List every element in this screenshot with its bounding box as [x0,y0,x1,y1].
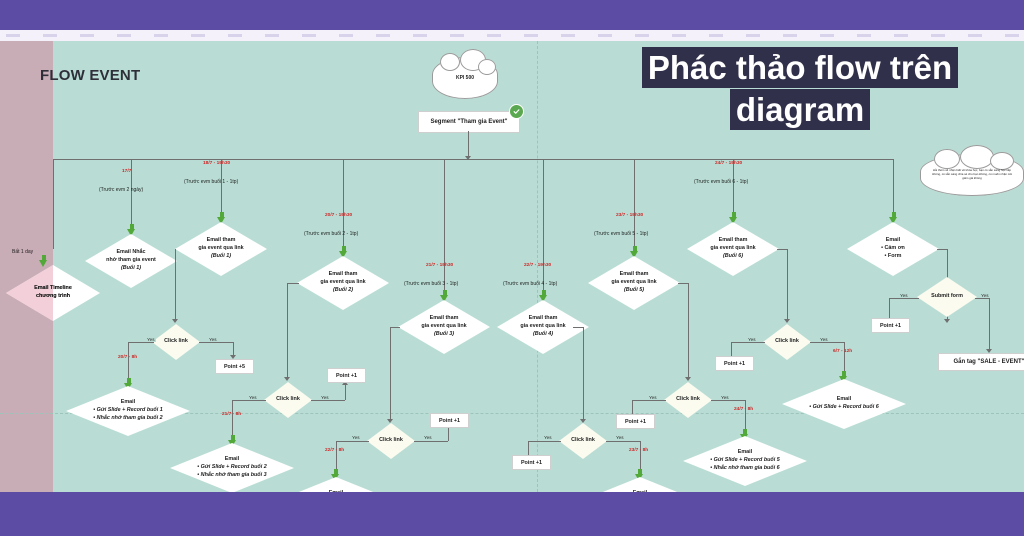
edge-label-yes: Yes [543,435,553,440]
node-email-material-b6[interactable]: Email • Gửi Slide + Record buổi 6 [782,379,906,429]
node-text: Email tham gia event qua link (Buổi 3) [415,315,472,338]
connector [528,441,529,455]
node-text: Email • Gửi Slide + Record buổi 4 • Nhắc… [599,490,680,492]
node-click-link-b4[interactable]: Click link [559,423,607,459]
node-click-link-b2[interactable]: Click link [264,382,312,418]
connector [989,298,990,352]
ruler-tick [635,34,649,37]
timeline-side-label: Bất 1 day [12,249,33,255]
top-chrome-bar [0,0,1024,30]
connector [777,249,788,250]
email-title: Email [837,396,851,402]
node-email-material-b5[interactable]: Email • Gửi Slide + Record buổi 5 • Nhắc… [683,436,807,486]
screenshot-root: FLOW EVENT KPI 500 Hỏi thêm về nhận biết… [0,0,1024,536]
node-line-2: gia event qua link [520,323,565,329]
connector [468,131,469,158]
cloud-bubble [440,53,460,71]
connector [128,342,154,343]
ruler-tick [413,34,427,37]
node-text: Click link [670,396,706,404]
arrow-head [284,377,290,381]
email-date-b1: 20/7 - 8h [118,355,137,360]
connector [583,327,584,421]
board-title: FLOW EVENT [40,67,140,84]
ruler-tick [598,34,612,37]
node-text: Email tham gia event qua link (Buổi 2) [314,271,371,294]
connector [975,298,989,299]
node-line-1: Email tham [529,315,558,321]
node-line-1: Email Nhắc [116,249,145,255]
node-point-plus1-b2[interactable]: Point +1 [327,368,366,383]
ruler-tick [117,34,131,37]
node-text: Email • Gửi Slide + Record buổi 6 [803,396,884,412]
branch-note-b0: (Trước evm 2 ngày) [99,187,143,193]
node-line-2: gia event qua link [320,279,365,285]
connector [678,283,689,284]
main-bus-line [53,159,893,160]
email-title: Email [121,399,135,405]
kpi-cloud: KPI 500 [432,57,498,99]
node-email-link-b5[interactable]: Email tham gia event qua link (Buổi 5) [588,256,680,310]
edge-label-yes: Yes [351,435,361,440]
arrow-head [784,319,790,323]
email-item-2: • Nhắc nhở tham gia buổi 6 [710,465,779,473]
node-email-material-b1[interactable]: Email • Gửi Slide + Record buổi 1 • Nhắc… [66,386,190,436]
node-line-2: gia event qua link [710,245,755,251]
connector [889,298,890,318]
node-text: Click link [270,396,306,404]
connector [543,159,544,299]
ruler-tick [746,34,760,37]
connector [810,342,844,343]
node-point-plus1-b3[interactable]: Point +1 [430,413,469,428]
branch-date-b0: 17/7 [122,169,131,174]
branch-note-b2: (Trước evm buổi 2 - 1tp) [304,231,358,237]
ruler-tick [820,34,834,37]
ruler-tick [339,34,353,37]
node-text: Email tham gia event qua link (Buổi 6) [704,237,761,260]
ruler-tick [376,34,390,37]
cloud-bubble [478,59,496,75]
connector [175,249,176,321]
node-click-link-b5[interactable]: Click link [664,382,712,418]
connector [688,283,689,379]
ruler-tick [43,34,57,37]
node-click-link-b6[interactable]: Click link [763,324,811,360]
connector [287,283,299,284]
connector [606,441,640,442]
email-date-b4: 23/7 - 8h [629,448,648,453]
email-title: Email [738,449,752,455]
email-title: Email [633,490,647,492]
ruler-tick [783,34,797,37]
node-email-link-b6[interactable]: Email tham gia event qua link (Buổi 6) [687,222,779,276]
node-line-3: (Buổi 5) [611,287,656,295]
ruler-tick [80,34,94,37]
branch-date-b2: 20/7 - 19h30 [325,213,352,218]
note-cloud-text: Hỏi thêm về nhận biết về khóa học, bạn c… [920,169,1024,181]
connector [53,159,54,249]
node-text: Email • Gửi Slide + Record buổi 2 • Nhắc… [191,456,272,479]
node-line-3: (Buổi 4) [520,331,565,339]
node-line-3: (Buổi 3) [421,331,466,339]
ruler-tick [931,34,945,37]
connector [731,342,732,356]
branch-date-b6: 24/7 - 19h30 [715,161,742,166]
ruler-tick [450,34,464,37]
email-date-b2: 21/7 - 8h [222,412,241,417]
ruler-tick [672,34,686,37]
branch-date-b3: 21/7 - 19h30 [426,263,453,268]
email-date-b6: 6/7 - 12h [833,349,852,354]
node-text: Email Nhắc nhở tham gia event (Buổi 1) [100,249,162,272]
node-email-link-b2[interactable]: Email tham gia event qua link (Buổi 2) [297,256,389,310]
segment-box[interactable]: Segment "Tham gia Event" [418,111,520,133]
connector [444,159,445,299]
node-line-1-dup: Email Timeline [34,285,72,291]
ruler-tick [524,34,538,37]
node-text: Click link [158,338,194,346]
branch-date-b5: 23/7 - 19h30 [616,213,643,218]
node-line-1: Email tham [329,271,358,277]
email-item-1: • Gửi Slide + Record buổi 6 [809,404,878,412]
email-date-b3: 22/7 - 8h [325,448,344,453]
connector [287,283,288,379]
connector [232,400,266,401]
node-line-2: nhở tham gia event [106,257,156,263]
node-line-2: gia event qua link [198,245,243,251]
node-line-3: (Buổi 1) [198,253,243,261]
connector [414,441,448,442]
node-line-1: Email tham [620,271,649,277]
branch-note-b4: (Trước evm buổi 4 - 1tp) [503,281,557,287]
node-tag-sale-event[interactable]: Gắn tag "SALE - EVENT" [938,353,1024,371]
email-item-2: • Nhắc nhở tham gia buổi 2 [93,415,162,423]
note-cloud: Hỏi thêm về nhận biết về khóa học, bạn c… [920,154,1024,196]
branch-note-b1: (Trước evm buổi 1 - 1tp) [184,179,238,185]
node-line-2: gia event qua link [611,279,656,285]
ruler-tick [968,34,982,37]
branch-note-b6: (Trước evm buổi 6 - 1tp) [694,179,748,185]
node-line-1: Email tham [430,315,459,321]
connector [311,400,345,401]
node-point-plus1-b7[interactable]: Point +1 [871,318,910,333]
arrow-head [172,319,178,323]
overlay-title: Phác thảo flow trên diagram [610,47,990,131]
cloud-bubble [960,145,994,169]
node-text: Email • Gửi Slide + Record buổi 5 • Nhắc… [704,449,785,472]
edge-label-yes: Yes [423,435,433,440]
connector [937,249,948,250]
node-line-3: (Buổi 2) [320,287,365,295]
node-text: Click link [769,338,805,346]
node-line-1: Email tham [207,237,236,243]
connector [634,159,635,255]
node-text: Email tham gia event qua link (Buổi 4) [514,315,571,338]
ruler-tick [228,34,242,37]
branch-date-b4: 22/7 - 19h30 [524,263,551,268]
edge-label-yes: Yes [615,435,625,440]
kpi-cloud-text: KPI 500 [448,75,482,82]
ruler-tick [894,34,908,37]
ruler-tick [709,34,723,37]
ruler-tick [191,34,205,37]
arrow-head [685,377,691,381]
ruler-tick [6,34,20,37]
connector [787,249,788,321]
email-title: Email [329,490,343,492]
node-email-link-b1[interactable]: Email tham gia event qua link (Buổi 1) [175,222,267,276]
node-text: Submit form [925,293,969,301]
node-text: Email • Cảm ơn • Form [875,237,911,260]
email-item-1: • Gửi Slide + Record buổi 5 [710,457,779,465]
connector [528,441,561,442]
node-point-plus1-b4[interactable]: Point +1 [512,455,551,470]
node-line-2-dup: chương trình [36,293,70,299]
connector [390,327,391,421]
node-line-3: • Form [885,253,902,259]
timeline-text-overlay: Email Timeline chương trình [6,265,100,321]
node-point-plus1-b6[interactable]: Point +1 [715,356,754,371]
node-text: Click link [565,437,601,445]
overlay-title-text: Phác thảo flow trên diagram [642,47,958,130]
branch-note-b5: (Trước evm buổi 5 - 1tp) [594,231,648,237]
node-email-link-b3[interactable]: Email tham gia event qua link (Buổi 3) [398,300,490,354]
branch-note-b3: (Trước evm buổi 3 - 1tp) [404,281,458,287]
email-date-b5: 24/7 - 8h [734,407,753,412]
check-icon [509,104,524,119]
node-email-thanks-b7[interactable]: Email • Cảm ơn • Form [847,222,939,276]
node-submit-form[interactable]: Submit form [917,277,977,317]
email-item-1: • Gửi Slide + Record buổi 2 [197,464,266,472]
ruler-tick [561,34,575,37]
node-email-material-b3[interactable]: Email • Gửi Slide + Record buổi 3 • Nhắc… [274,477,398,492]
ruler-tick [302,34,316,37]
node-text: Email tham gia event qua link (Buổi 1) [192,237,249,260]
connector [573,327,584,328]
node-point-plus5-b1[interactable]: Point +5 [215,359,254,374]
node-line-3: (Buổi 1) [106,265,156,273]
connector [889,298,919,299]
node-line-2: • Cảm ơn [881,245,905,251]
node-text: Email tham gia event qua link (Buổi 5) [605,271,662,294]
ruler-tick [857,34,871,37]
bottom-chrome-bar [0,492,1024,536]
connector [711,400,745,401]
connector [632,400,633,414]
connector [343,159,344,255]
email-item-2: • Nhắc nhở tham gia buổi 3 [197,472,266,480]
ruler-tick [487,34,501,37]
node-line-1: Email [886,237,900,243]
connector [336,441,369,442]
connector [199,342,233,343]
node-click-link-b3[interactable]: Click link [367,423,415,459]
node-line-3: (Buổi 6) [710,253,755,261]
email-title: Email [225,456,239,462]
email-item-1: • Gửi Slide + Record buổi 1 [93,407,162,415]
node-text: Email • Gửi Slide + Record buổi 3 • Nhắc… [295,490,376,492]
ruler-tick [265,34,279,37]
node-text: Email • Gửi Slide + Record buổi 1 • Nhắc… [87,399,168,422]
connector [345,383,346,400]
ruler-tick [1005,34,1019,37]
connector [390,327,400,328]
node-line-2: gia event qua link [421,323,466,329]
node-text: Click link [373,437,409,445]
connector [731,342,765,343]
node-point-plus1-b5[interactable]: Point +1 [616,414,655,429]
arrow-head [944,319,950,323]
ruler-tick [154,34,168,37]
node-click-link-b1[interactable]: Click link [152,324,200,360]
node-line-1: Email tham [719,237,748,243]
cloud-bubble [934,149,960,169]
connector [632,400,666,401]
branch-date-b1: 18/7 - 19h30 [203,161,230,166]
